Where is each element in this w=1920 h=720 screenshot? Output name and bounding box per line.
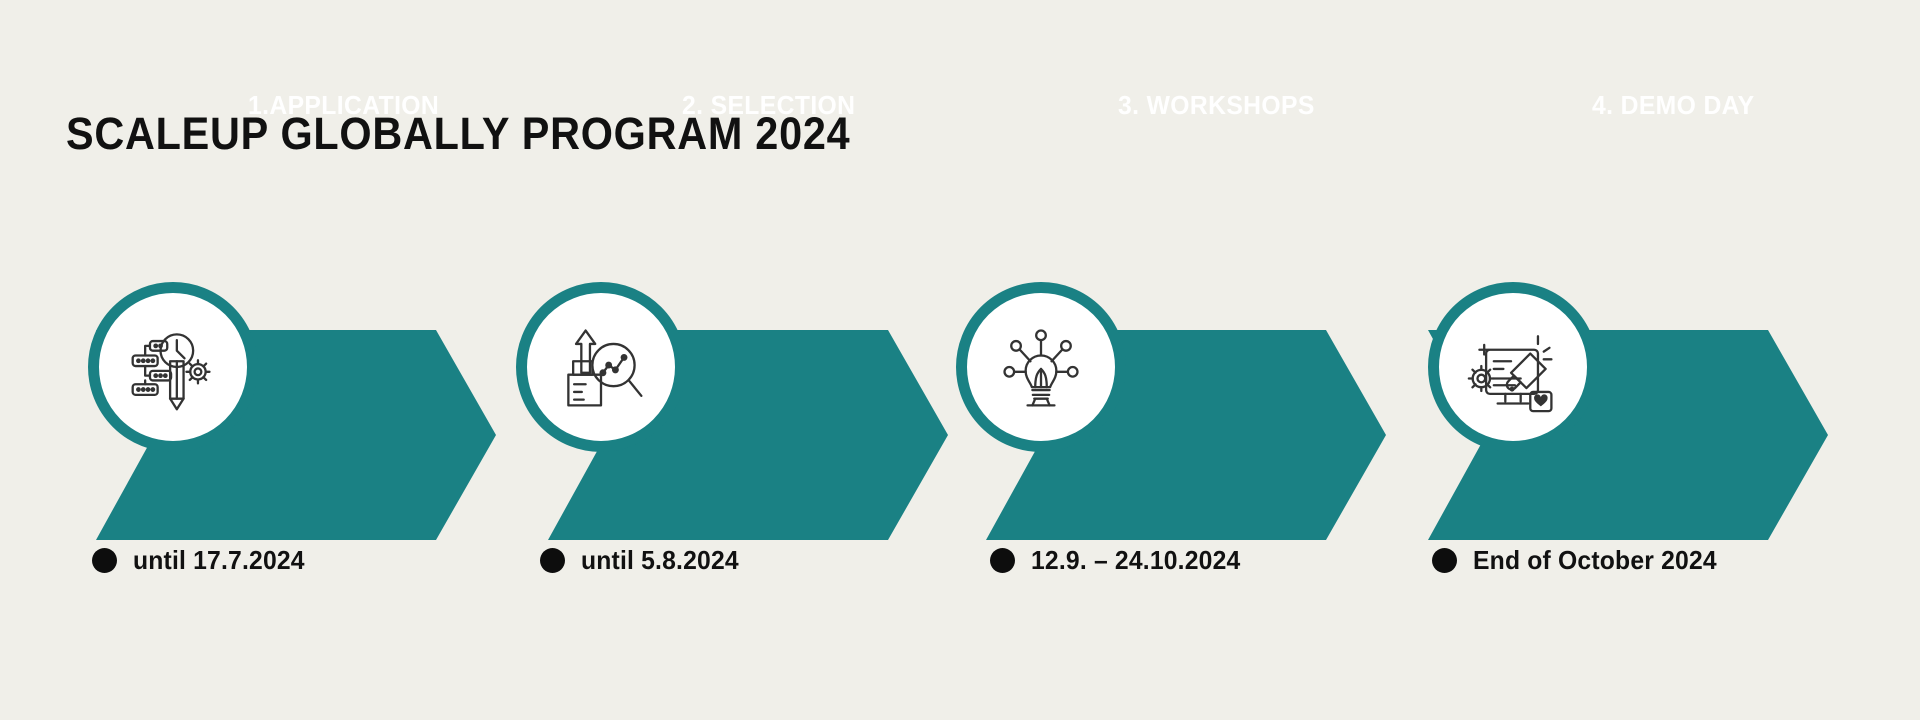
step-2-medallion <box>516 282 686 452</box>
growth-chart-magnifier-box-icon <box>553 319 649 415</box>
application-form-pencil-clock-gear-icon <box>125 319 221 415</box>
step-2-date-item: until 5.8.2024 <box>540 545 747 576</box>
step-3-label: 3. WORKSHOPS <box>1118 0 1315 210</box>
monitor-megaphone-gear-heart-icon <box>1465 319 1561 415</box>
step-1-medallion <box>88 282 258 452</box>
step-4-label: 4. DEMO DAY <box>1592 0 1754 210</box>
step-3-date-item: 12.9. – 24.10.2024 <box>990 545 1251 576</box>
step-1-date-item: until 17.7.2024 <box>92 545 314 576</box>
step-4-date: End of October 2024 <box>1473 545 1717 576</box>
lightbulb-network-idea-icon <box>993 319 1089 415</box>
step-3-medallion <box>956 282 1126 452</box>
bullet-icon <box>990 548 1015 573</box>
step-1-date: until 17.7.2024 <box>133 545 305 576</box>
step-2-date: until 5.8.2024 <box>581 545 739 576</box>
bullet-icon <box>1432 548 1457 573</box>
step-4-medallion <box>1428 282 1598 452</box>
timeline-steps: 1.APPLICATION <box>0 0 1920 720</box>
step-3-date: 12.9. – 24.10.2024 <box>1031 545 1240 576</box>
bullet-icon <box>540 548 565 573</box>
infographic-canvas: SCALEUP GLOBALLY PROGRAM 2024 1.APPLICAT… <box>0 0 1920 720</box>
step-2-label: 2. SELECTION <box>682 0 855 210</box>
bullet-icon <box>92 548 117 573</box>
step-1-label: 1.APPLICATION <box>248 0 439 210</box>
step-4-date-item: End of October 2024 <box>1432 545 1730 576</box>
